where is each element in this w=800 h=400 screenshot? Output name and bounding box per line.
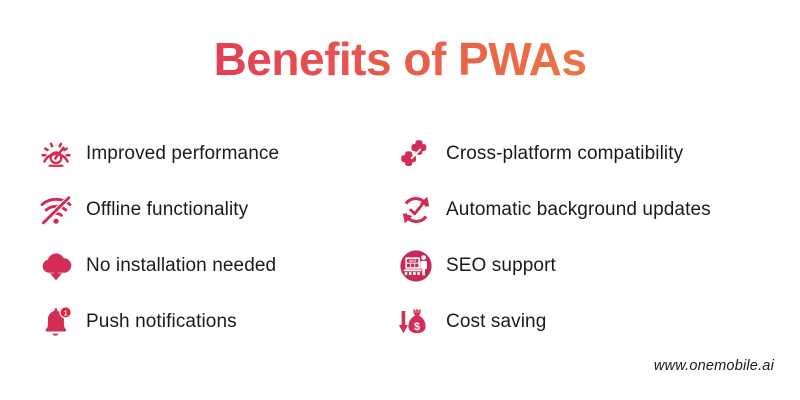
wifi-off-icon [36,190,76,230]
benefit-label: No installation needed [86,255,276,277]
benefit-item: $ Cost saving [396,294,786,350]
benefit-label: Cost saving [446,311,546,333]
benefit-label: Cross-platform compatibility [446,143,683,165]
benefit-label: Push notifications [86,311,237,333]
benefit-item: 1 Push notifications [36,294,396,350]
puzzle-pieces-icon [396,134,436,174]
benefit-label: SEO support [446,255,556,277]
notification-badge-count: 1 [64,310,68,317]
benefit-item: No installation needed [36,238,396,294]
speedometer-icon [36,134,76,174]
benefit-label: Offline functionality [86,199,248,221]
benefit-item: Cross-platform compatibility [396,126,786,182]
benefits-column-left: Improved performance Offline functionali… [36,126,396,350]
benefit-item: Improved performance [36,126,396,182]
svg-text:SEO: SEO [409,259,417,263]
cost-saving-money-bag-icon: $ [396,302,436,342]
benefit-label: Automatic background updates [446,199,711,221]
refresh-check-icon [396,190,436,230]
slide-canvas: Benefits of PWAs Improved performance [0,0,800,400]
svg-text:$: $ [414,321,420,333]
benefits-column-right: Cross-platform compatibility Automatic b… [396,126,786,350]
benefit-label: Improved performance [86,143,279,165]
benefit-item: SEO SEO support [396,238,786,294]
footer-website-url: www.onemobile.ai [654,358,774,374]
benefit-item: Automatic background updates [396,182,786,238]
benefit-item: Offline functionality [36,182,396,238]
seo-presentation-icon: SEO [396,246,436,286]
cloud-download-icon [36,246,76,286]
bell-notification-icon: 1 [36,302,76,342]
page-title: Benefits of PWAs [0,30,800,88]
